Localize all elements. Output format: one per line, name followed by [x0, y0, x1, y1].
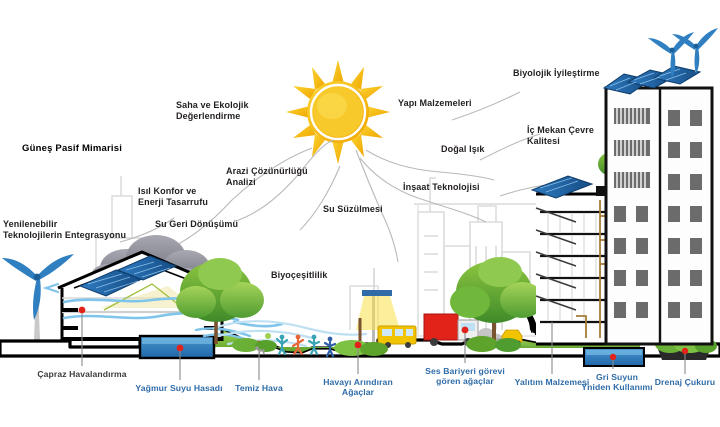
marker-dot	[79, 307, 86, 314]
label-havayi-arindiran: Havayı Arındıran Ağaçlar	[323, 377, 393, 397]
label-yapi-malzemeleri: Yapı Malzemeleri	[398, 98, 472, 109]
label-dogal-isik: Doğal Işık	[441, 144, 485, 155]
marker-dot	[177, 345, 184, 352]
marker-dot	[610, 354, 616, 360]
front-small-building	[644, 268, 692, 344]
infographic-canvas: Güneş Pasif MimarisiYenilenebilir Teknol…	[0, 0, 720, 427]
marker-dot	[682, 348, 688, 354]
label-su-geri-donusumu: Su Geri Dönüşümü	[155, 219, 238, 230]
label-insaat-teknolojisi: İnşaat Teknolojisi	[403, 182, 480, 193]
label-yagmur-suyu-hasadi: Yağmur Suyu Hasadı	[135, 383, 222, 393]
label-saha-ve-ekolojik: Saha ve Ekolojik Değerlendirme	[176, 100, 249, 121]
label-ses-bariyeri: Ses Bariyeri görevi gören ağaçlar	[425, 366, 505, 386]
label-drenaj-cukuru: Drenaj Çukuru	[655, 377, 716, 387]
marker-dot	[355, 342, 362, 349]
sun-icon	[286, 60, 390, 164]
label-yalitim-malzemesi: Yalıtım Malzemesi	[515, 377, 590, 387]
label-capraz-havalandirma: Çapraz Havalandırma	[37, 369, 126, 379]
marker-dot	[462, 327, 469, 334]
label-arazi-cozunurlugu: Arazi Çözünürlüğü Analizi	[226, 166, 308, 187]
label-temiz-hava: Temiz Hava	[235, 383, 283, 393]
label-isil-konfor: Isıl Konfor ve Enerji Tasarrufu	[138, 186, 208, 207]
label-gunes-pasif-mimarisi: Güneş Pasif Mimarisi	[22, 143, 122, 154]
louver-windows	[614, 108, 650, 188]
label-biyolojik-iyilestirme: Biyolojik İyileştirme	[513, 68, 600, 79]
label-yenilenebilir-teknolojiler: Yenilenebilir Teknolojilerin Entegrasyon…	[3, 219, 126, 240]
label-gri-suyun-yniden: Gri Suyun Yniden Kullanımı	[581, 372, 652, 392]
label-ic-mekan-cevre-kalitesi: İç Mekan Çevre Kalitesi	[527, 125, 594, 146]
label-su-suzulmesi: Su Süzülmesi	[323, 204, 383, 215]
label-biyocesitlilik: Biyoçeşitlilik	[271, 270, 327, 281]
grey-water-tank	[584, 348, 644, 369]
